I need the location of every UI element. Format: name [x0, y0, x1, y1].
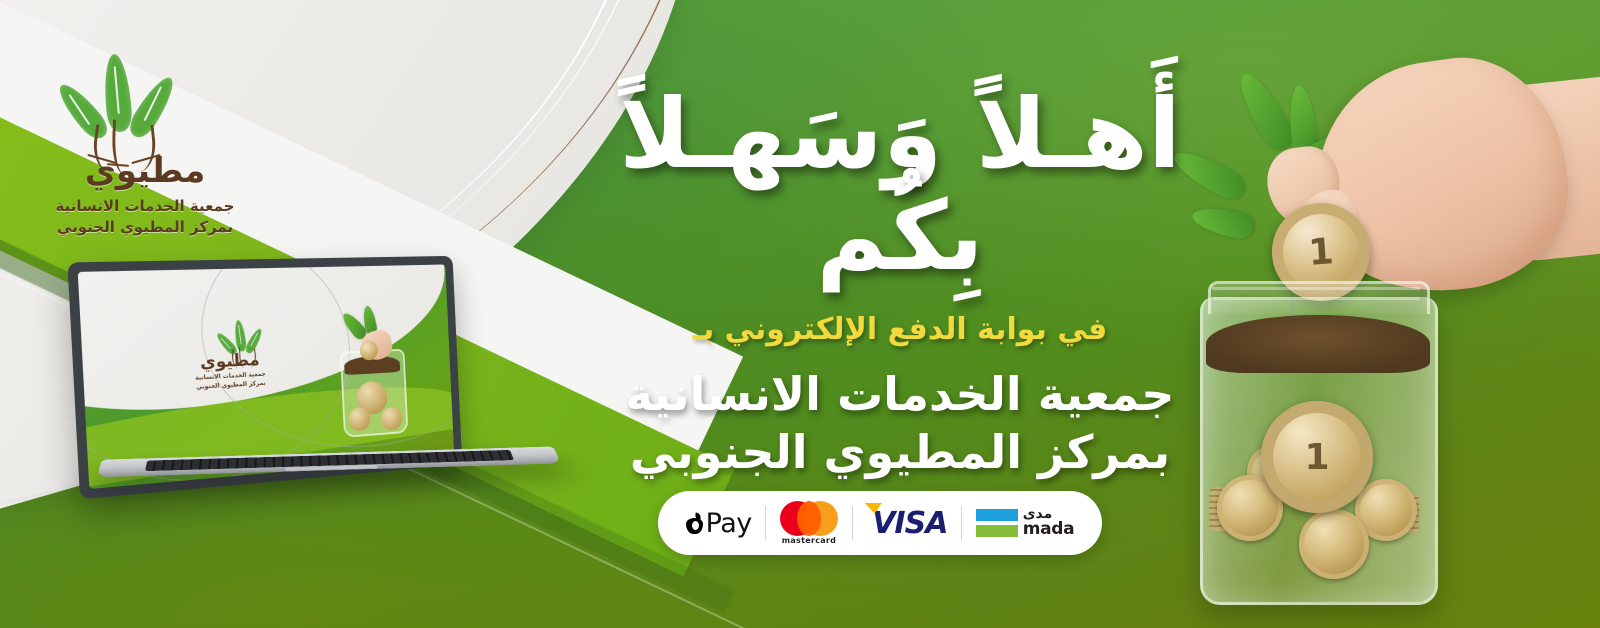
- laptop-illustration: مطيوي جمعية الخدمات الانسانية بمركز المط…: [60, 255, 620, 575]
- mada-bars-icon: [976, 509, 1018, 537]
- mada-logo[interactable]: مدى mada: [976, 501, 1075, 545]
- coin-held-value: 1: [1307, 231, 1335, 274]
- subline-payment-gateway: في بوابة الدفع الإلكتروني بـ: [560, 312, 1240, 347]
- visa-logo[interactable]: VISA: [866, 501, 947, 545]
- divider-1: [765, 506, 766, 540]
- mada-wordmark: مدى mada: [1023, 507, 1075, 540]
- screen-logo-wordmark: مطيوي: [187, 351, 273, 373]
- coin-small-3: [1299, 509, 1369, 579]
- logo-subtitle-line-1: جمعية الخدمات الانسانية: [45, 197, 245, 215]
- organization-logo: مطيوي جمعية الخدمات الانسانية بمركز المط…: [45, 40, 245, 236]
- mada-latin-label: mada: [1023, 521, 1075, 539]
- sapling-icon: [45, 40, 245, 160]
- apple-icon: [686, 513, 703, 534]
- organization-name: جمعية الخدمات الانسانية بمركز المطيوي ال…: [560, 365, 1240, 483]
- divider-3: [961, 506, 962, 540]
- visa-label: VISA: [872, 506, 947, 541]
- headline-welcome: أَهـلاً وَسَهـلاً بِكُم: [560, 40, 1240, 288]
- logo-subtitle-line-2: بمركز المطيوي الجنوبي: [45, 218, 245, 236]
- organization-name-line-2: بمركز المطيوي الجنوبي: [560, 423, 1240, 482]
- banner-root: مطيوي جمعية الخدمات الانسانية بمركز المط…: [0, 0, 1600, 628]
- screen-logo: مطيوي جمعية الخدمات الانسانية بمركز المط…: [185, 313, 274, 391]
- visa-wordmark: VISA: [866, 506, 947, 541]
- mastercard-label: mastercard: [782, 536, 837, 545]
- payment-methods-bar: Pay mastercard VISA مدى mada: [658, 491, 1102, 555]
- mastercard-icon: [780, 501, 838, 533]
- divider-2: [852, 506, 853, 540]
- screen-coin-jar: [332, 304, 410, 436]
- coin-large-front: 1: [1261, 401, 1373, 513]
- apple-pay-label: Pay: [706, 508, 752, 539]
- apple-pay-logo[interactable]: Pay: [686, 501, 752, 545]
- organization-name-line-1: جمعية الخدمات الانسانية: [560, 365, 1240, 424]
- copy-block: أَهـلاً وَسَهـلاً بِكُم في بوابة الدفع ا…: [560, 40, 1240, 482]
- screen-sapling-icon: [211, 314, 246, 333]
- mastercard-logo[interactable]: mastercard: [780, 501, 838, 545]
- coin-large-value: 1: [1304, 437, 1329, 478]
- plant-leaf-1: [1231, 67, 1299, 155]
